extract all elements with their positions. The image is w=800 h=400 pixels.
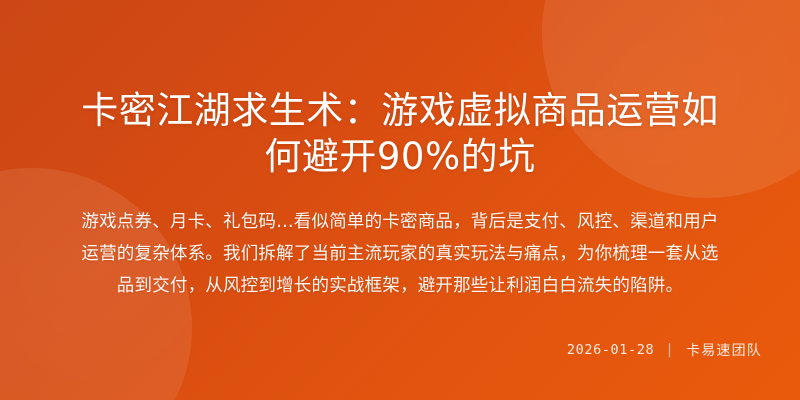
description-line-2: 运营的复杂体系。我们拆解了当前主流玩家的真实玩法与痛点，为你梳理一套从选 — [38, 238, 762, 270]
description-line-1: 游戏点券、月卡、礼包码…看似简单的卡密商品，背后是支付、风控、渠道和用户 — [38, 206, 762, 238]
author-team: 卡易速团队 — [686, 340, 762, 360]
description-line-3: 品到交付，从风控到增长的实战框架，避开那些让利润白白流失的陷阱。 — [38, 270, 762, 302]
cover-banner: 卡密江湖求生术：游戏虚拟商品运营如 何避开90%的坑 游戏点券、月卡、礼包码…看… — [0, 0, 800, 400]
page-title-line-2: 何避开90%的坑 — [38, 134, 762, 180]
description-block: 游戏点券、月卡、礼包码…看似简单的卡密商品，背后是支付、风控、渠道和用户 运营的… — [38, 206, 762, 302]
page-title-line-1: 卡密江湖求生术：游戏虚拟商品运营如 — [38, 88, 762, 134]
publish-date: 2026-01-28 — [567, 342, 654, 358]
footer-separator: | — [667, 342, 673, 358]
banner-content: 卡密江湖求生术：游戏虚拟商品运营如 何避开90%的坑 游戏点券、月卡、礼包码…看… — [0, 0, 800, 400]
title-block: 卡密江湖求生术：游戏虚拟商品运营如 何避开90%的坑 — [38, 88, 762, 180]
banner-footer: 2026-01-28 | 卡易速团队 — [38, 340, 762, 360]
